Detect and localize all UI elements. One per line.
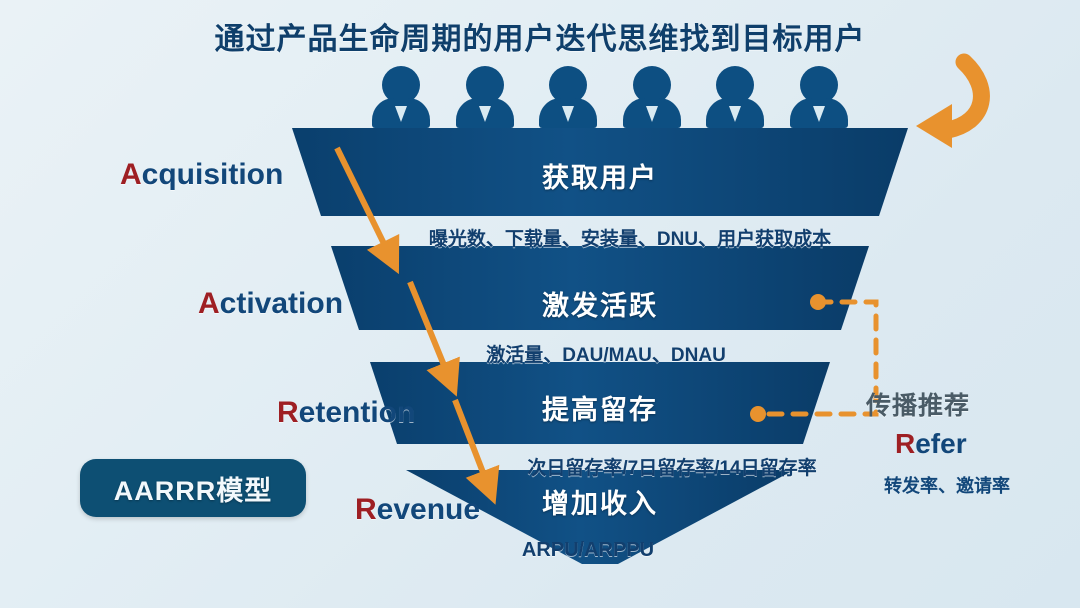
person-collar <box>729 106 741 122</box>
refer-initial: R <box>895 428 915 459</box>
stage-name-revenue: 增加收入 <box>542 482 658 521</box>
path-dot <box>810 294 826 310</box>
aarrr-label-retention: Retention <box>277 396 415 430</box>
person-collar <box>479 106 491 122</box>
metrics-refer: 转发率、邀请率 <box>884 472 1010 498</box>
stage-name-acquisition: 获取用户 <box>542 156 658 195</box>
aarrr-initial: A <box>198 287 220 320</box>
person-collar <box>395 106 407 122</box>
aarrr-initial: A <box>120 158 142 191</box>
aarrr-initial: R <box>277 396 299 429</box>
aarrr-rest: etention <box>299 396 416 429</box>
person-collar <box>562 106 574 122</box>
aarrr-model-badge-label: AARRR模型 <box>114 469 273 508</box>
refer-title-en: Refer <box>895 428 967 460</box>
aarrr-rest: ctivation <box>220 287 343 320</box>
person-collar <box>646 106 658 122</box>
metrics-acquisition: 曝光数、下载量、安装量、DNU、用户获取成本 <box>429 224 831 251</box>
metrics-activation: 激活量、DAU/MAU、DNAU <box>486 340 726 367</box>
aarrr-label-revenue: Revenue <box>355 493 480 527</box>
aarrr-rest: evenue <box>377 493 480 526</box>
aarrr-model-badge: AARRR模型 <box>80 459 306 517</box>
slide-canvas: 通过产品生命周期的用户迭代思维找到目标用户 <box>0 0 1080 608</box>
stage-name-retention: 提高留存 <box>542 388 658 427</box>
curved-arrow-left-icon <box>916 62 981 148</box>
aarrr-initial: R <box>355 493 377 526</box>
person-collar <box>813 106 825 122</box>
metrics-revenue: ARPU/ARPPU <box>522 539 654 562</box>
aarrr-rest: cquisition <box>142 158 284 191</box>
stage-name-activation: 激发活跃 <box>542 284 658 323</box>
refer-title-zh: 传播推荐 <box>866 386 970 422</box>
path-dot <box>750 406 766 422</box>
refer-rest: efer <box>915 428 966 459</box>
aarrr-label-activation: Activation <box>198 287 343 321</box>
aarrr-label-acquisition: Acquisition <box>120 158 283 192</box>
metrics-retention: 次日留存率/7日留存率/14日留存率 <box>527 453 816 480</box>
